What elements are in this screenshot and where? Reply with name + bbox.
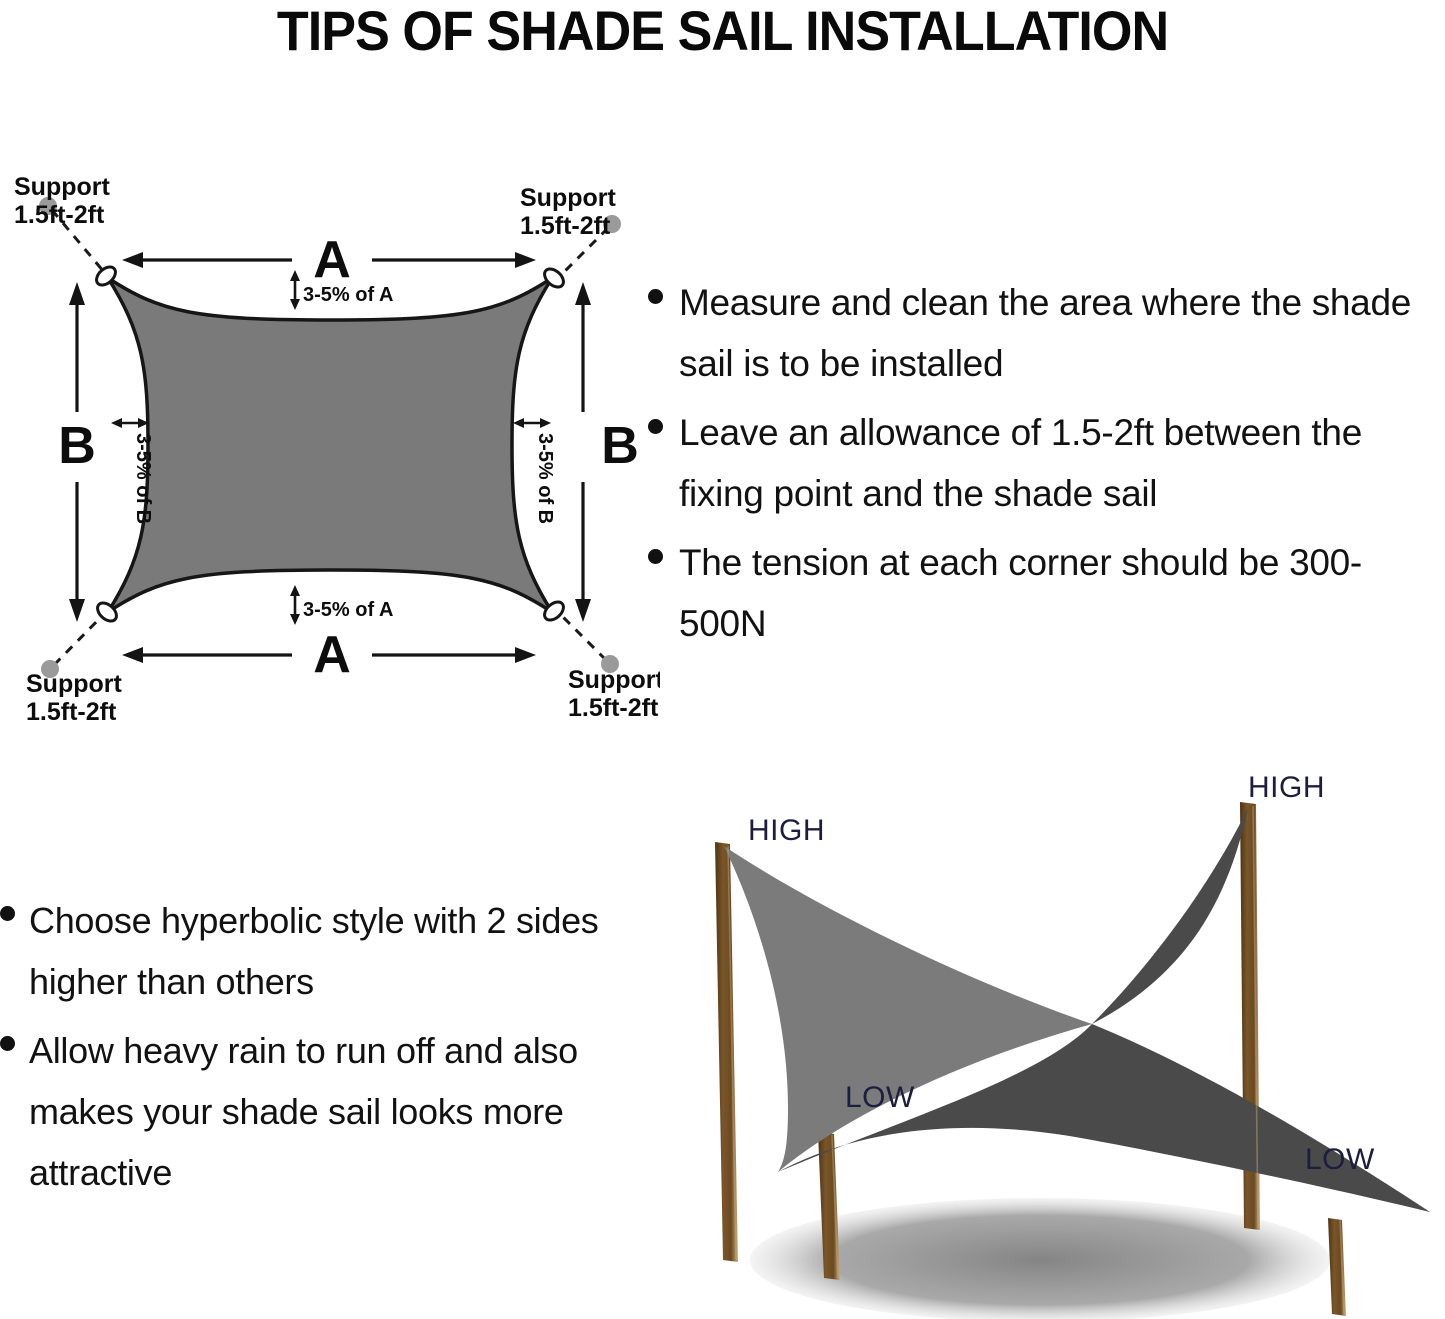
dimension-label-bottom-A: A: [313, 626, 351, 684]
curve-label-top: 3-5% of A: [303, 284, 393, 306]
list-item: Allow heavy rain to run off and also mak…: [0, 1020, 625, 1203]
curve-tick-top: [290, 270, 300, 310]
bullet-dot-icon: [0, 906, 15, 921]
curve-label-bottom: 3-5% of A: [303, 599, 393, 621]
infographic-page: TIPS OF SHADE SAIL INSTALLATION: [0, 0, 1445, 1319]
label-high-left: HIGH: [748, 814, 825, 848]
installation-tips-right: Measure and clean the area where the sha…: [648, 272, 1445, 662]
page-title: TIPS OF SHADE SAIL INSTALLATION: [51, 0, 1395, 62]
label-low-right: LOW: [1305, 1143, 1375, 1177]
bullet-dot-icon: [648, 289, 663, 304]
hyperbolic-shade-sail-illustration: HIGH HIGH LOW LOW: [640, 760, 1445, 1319]
curve-tick-right: [513, 418, 551, 428]
tip-text: Leave an allowance of 1.5-2ft between th…: [679, 402, 1445, 524]
label-high-right: HIGH: [1248, 771, 1325, 805]
dimension-label-top-A: A: [313, 231, 351, 289]
support-top-right-line2: 1.5ft-2ft: [520, 212, 611, 240]
bullet-dot-icon: [0, 1036, 15, 1051]
rectangular-shade-sail-dimension-diagram: A 3-5% of A A 3-5% of A: [0, 160, 660, 730]
curve-label-left: 3-5% of B: [132, 433, 154, 524]
installation-tips-bottom-left: Choose hyperbolic style with 2 sides hig…: [0, 890, 625, 1211]
list-item: Choose hyperbolic style with 2 sides hig…: [0, 890, 625, 1012]
support-bottom-right-line1: Support: [568, 666, 660, 694]
curve-tick-left: [111, 418, 149, 428]
support-bottom-left-line1: Support: [26, 670, 122, 698]
curve-tick-bottom: [290, 585, 300, 625]
bullet-dot-icon: [648, 419, 663, 434]
support-bottom-right-line2: 1.5ft-2ft: [568, 694, 659, 722]
curve-label-right: 3-5% of B: [534, 433, 556, 524]
dimension-arrow-right-B: [575, 282, 591, 622]
tip-text: Allow heavy rain to run off and also mak…: [29, 1020, 625, 1203]
list-item: The tension at each corner should be 300…: [648, 532, 1445, 654]
tip-text: Choose hyperbolic style with 2 sides hig…: [29, 890, 625, 1012]
label-low-left: LOW: [845, 1081, 915, 1115]
dimension-label-right-B: B: [601, 417, 639, 475]
support-top-left-line1: Support: [14, 173, 110, 201]
list-item: Measure and clean the area where the sha…: [648, 272, 1445, 394]
bullet-dot-icon: [648, 549, 663, 564]
support-bottom-left-line2: 1.5ft-2ft: [26, 698, 117, 726]
tip-text: The tension at each corner should be 300…: [679, 532, 1445, 654]
tip-text: Measure and clean the area where the sha…: [679, 272, 1445, 394]
support-top-right-line1: Support: [520, 184, 616, 212]
dimension-label-left-B: B: [58, 417, 96, 475]
support-top-left-line2: 1.5ft-2ft: [14, 201, 105, 229]
list-item: Leave an allowance of 1.5-2ft between th…: [648, 402, 1445, 524]
sail-body-shape: [108, 278, 552, 612]
